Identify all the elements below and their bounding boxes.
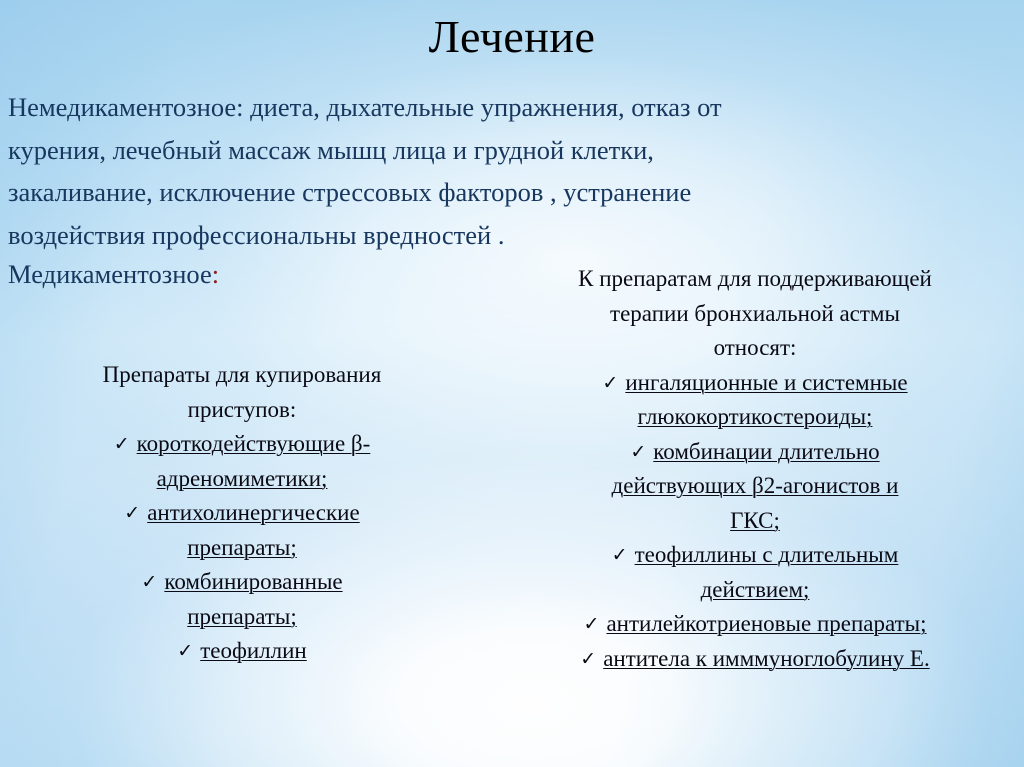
check-icon: ✓ (124, 504, 140, 523)
medicated-section-label: Медикаментозное: (8, 255, 219, 293)
list-item-text: адреномиметики; (157, 466, 328, 491)
list-item-continuation: адреномиметики; (42, 462, 442, 497)
list-item-text: ГКС; (730, 508, 780, 533)
intro-line-2: курения, лечебный массаж мышц лица и гру… (8, 129, 938, 172)
intro-line-1: Немедикаментозное: диета, дыхательные уп… (8, 86, 938, 129)
list-item-text: теофиллины с длительным (635, 542, 899, 567)
check-icon: ✓ (141, 573, 157, 592)
list-item-text: действующих β2-агонистов и (612, 473, 899, 498)
list-item: ✓теофиллин (42, 634, 442, 669)
list-item-text: комбинированные (164, 569, 342, 594)
right-column-block: К препаратам для поддерживающей терапии … (520, 262, 990, 676)
check-icon: ✓ (612, 546, 628, 565)
left-column-heading-line-1: Препараты для купирования (42, 358, 442, 393)
intro-line-3: закаливание, исключение стрессовых факто… (8, 171, 938, 214)
list-item-text: антитела к имммуноглобулину Е. (603, 646, 929, 671)
check-icon: ✓ (177, 642, 193, 661)
list-item-text: препараты; (187, 535, 297, 560)
list-item: ✓короткодействующие β- (42, 427, 442, 462)
slide-canvas: Лечение Немедикаментозное: диета, дыхате… (0, 0, 1024, 767)
left-column-block: Препараты для купирования приступов: ✓ко… (42, 358, 442, 669)
intro-line-4: воздействия профессиональны вредностей . (8, 214, 938, 257)
list-item-continuation: ГКС; (520, 504, 990, 539)
right-column-heading-line-2: терапии бронхиальной астмы (520, 297, 990, 332)
list-item: ✓антитела к имммуноглобулину Е. (520, 642, 990, 677)
list-item: ✓комбинации длительно (520, 435, 990, 470)
check-icon: ✓ (580, 650, 596, 669)
list-item-text: ингаляционные и системные (625, 370, 907, 395)
list-item-text: антихолинергические (147, 500, 360, 525)
list-item-text: комбинации длительно (653, 439, 879, 464)
medicated-label-colon: : (212, 259, 219, 289)
list-item-text: теофиллин (200, 638, 307, 663)
list-item: ✓комбинированные (42, 565, 442, 600)
list-item-continuation: глюкокортикостероиды; (520, 400, 990, 435)
medicated-label-text: Медикаментозное (8, 259, 212, 289)
intro-paragraph: Немедикаментозное: диета, дыхательные уп… (8, 86, 938, 256)
list-item-text: глюкокортикостероиды; (638, 404, 873, 429)
page-title: Лечение (0, 8, 1024, 66)
right-column-heading-line-1: К препаратам для поддерживающей (520, 262, 990, 297)
list-item-text: короткодействующие β- (137, 431, 371, 456)
list-item-continuation: препараты; (42, 531, 442, 566)
list-item: ✓ингаляционные и системные (520, 366, 990, 401)
check-icon: ✓ (584, 615, 600, 634)
list-item-continuation: препараты; (42, 600, 442, 635)
list-item: ✓теофиллины с длительным (520, 538, 990, 573)
check-icon: ✓ (602, 374, 618, 393)
list-item: ✓антилейкотриеновые препараты; (520, 607, 990, 642)
list-item-text: действием; (701, 577, 810, 602)
right-column-heading-line-3: относят: (520, 331, 990, 366)
list-item-text: антилейкотриеновые препараты; (606, 611, 926, 636)
check-icon: ✓ (630, 443, 646, 462)
slide-content: Лечение Немедикаментозное: диета, дыхате… (0, 0, 1024, 767)
left-column-heading-line-2: приступов: (42, 393, 442, 428)
list-item-text: препараты; (187, 604, 297, 629)
list-item-continuation: действием; (520, 573, 990, 608)
list-item-continuation: действующих β2-агонистов и (520, 469, 990, 504)
check-icon: ✓ (114, 435, 130, 454)
list-item: ✓антихолинергические (42, 496, 442, 531)
